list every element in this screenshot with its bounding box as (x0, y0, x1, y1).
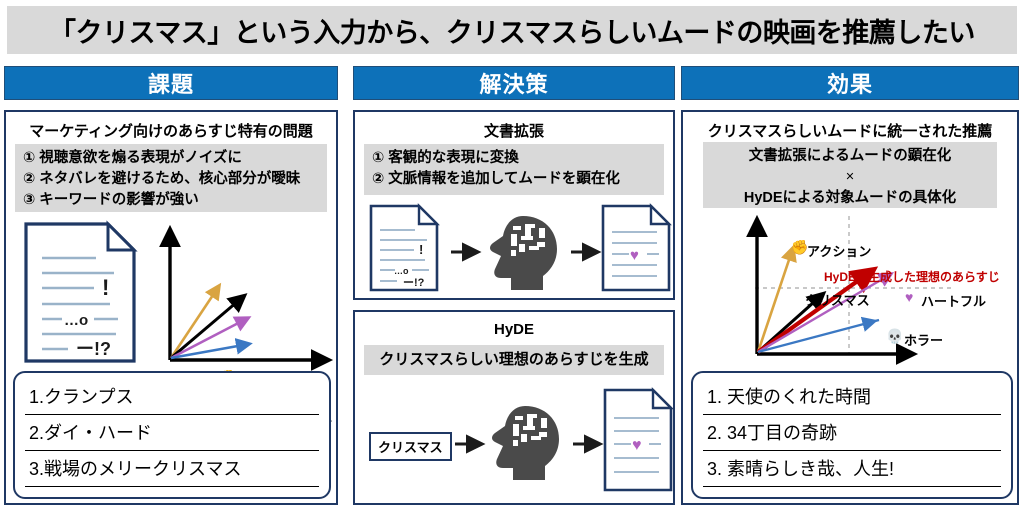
panel-effect: クリスマスらしいムードに統一された推薦 文書拡張によるムードの顕在化 × HyD… (681, 110, 1019, 505)
expansion-input-document-icon: ! …o ー!? (371, 206, 437, 290)
brain-head-icon (490, 216, 557, 290)
panel-document-expansion: 文書拡張 ① 客観的な表現に変換 ② 文脈情報を追加してムードを顕在化 (353, 110, 675, 300)
problem-result-1: 1.クランプス (25, 379, 319, 415)
slide-root: 「クリスマス」という入力から、クリスマスらしいムードの映画を推薦したい 課題 解… (0, 0, 1024, 509)
chart-after-vector-space (745, 212, 1007, 364)
chart-before-vector-space (156, 218, 334, 368)
svg-text:…o: …o (64, 312, 88, 329)
chart2-label-heartful: ハートフル (921, 291, 986, 310)
svg-text:♥: ♥ (630, 247, 639, 264)
chart2-label-action: アクション (807, 241, 871, 260)
effect-formula-operator: × (711, 167, 989, 188)
effect-panel-title: クリスマスらしいムードに統一された推薦 (683, 120, 1017, 141)
page-title: 「クリスマス」という入力から、クリスマスらしいムードの映画を推薦したい (7, 6, 1017, 54)
fist-icon: ✊ (791, 240, 808, 254)
effect-result-1: 1. 天使のくれた時間 (703, 379, 1001, 415)
problem-result-2: 2.ダイ・ハード (25, 415, 319, 451)
effect-formula-box: 文書拡張によるムードの顕在化 × HyDEによる対象ムードの具体化 (703, 142, 997, 208)
column-header-solution: 解決策 (353, 66, 675, 100)
svg-text:ー!?: ー!? (403, 277, 425, 289)
problem-result-3: 3.戦場のメリークリスマス (25, 451, 319, 487)
problem-issue-2: ② ネタバレを避けるため、核心部分が曖昧 (23, 169, 319, 190)
skull-icon: 💀 (886, 329, 903, 343)
svg-text:!: ! (102, 275, 109, 300)
doc-expansion-steps: ① 客観的な表現に変換 ② 文脈情報を追加してムードを顕在化 (364, 144, 664, 195)
problem-issue-list: ① 視聴意欲を煽る表現がノイズに ② ネタバレを避けるため、核心部分が曖昧 ③ … (15, 144, 327, 212)
doc-expansion-step-1: ① 客観的な表現に変換 (372, 148, 656, 169)
problem-results-card: 1.クランプス 2.ダイ・ハード 3.戦場のメリークリスマス (13, 371, 331, 499)
expansion-output-document-icon: ♥ (603, 206, 669, 290)
effect-result-3: 3. 素晴らしき哉、人生! (703, 451, 1001, 487)
chart2-label-christmas: クリスマス (805, 290, 870, 309)
svg-text:♥: ♥ (632, 437, 642, 454)
problem-panel-title: マーケティング向けのあらすじ特有の問題 (6, 120, 336, 141)
effect-results-card: 1. 天使のくれた時間 2. 34丁目の奇跡 3. 素晴らしき哉、人生! (691, 371, 1013, 499)
column-header-problem: 課題 (4, 66, 338, 100)
chart2-label-horror: ホラー (904, 330, 943, 349)
hyde-flow: ♥ (367, 384, 667, 496)
column-header-effect-label: 効果 (827, 67, 873, 99)
effect-result-2: 2. 34丁目の奇跡 (703, 415, 1001, 451)
hyde-description-box: クリスマスらしい理想のあらすじを生成 (364, 345, 664, 375)
brain-head-icon (492, 406, 559, 480)
svg-text:!: ! (419, 242, 423, 257)
effect-formula-2: HyDEによる対象ムードの具体化 (711, 188, 989, 209)
doc-expansion-title: 文書拡張 (355, 120, 673, 141)
column-header-solution-label: 解決策 (479, 67, 548, 99)
column-header-effect: 効果 (681, 66, 1019, 100)
heart-icon: ♥ (905, 290, 913, 304)
hyde-description: クリスマスらしい理想のあらすじを生成 (379, 349, 648, 371)
svg-text:ー!?: ー!? (76, 339, 111, 359)
hyde-generated-document-icon: ♥ (605, 390, 671, 490)
panel-hyde: HyDE クリスマスらしい理想のあらすじを生成 クリスマス (353, 310, 675, 505)
problem-issue-1: ① 視聴意欲を煽る表現がノイズに (23, 148, 319, 169)
doc-expansion-step-2: ② 文脈情報を追加してムードを顕在化 (372, 169, 656, 190)
column-header-problem-label: 課題 (148, 67, 194, 99)
page-title-text: 「クリスマス」という入力から、クリスマスらしいムードの映画を推薦したい (49, 11, 975, 50)
hyde-title: HyDE (355, 321, 673, 338)
problem-issue-3: ③ キーワードの影響が強い (23, 190, 319, 211)
effect-formula-1: 文書拡張によるムードの顕在化 (711, 146, 989, 167)
panel-problem: マーケティング向けのあらすじ特有の問題 ① 視聴意欲を煽る表現がノイズに ② ネ… (4, 110, 338, 505)
problem-input-document-icon: ! …o ー!? (22, 220, 142, 365)
chart2-annotation-hyde: HyDEで生成した理想のあらすじ (824, 268, 1000, 285)
doc-expansion-flow: ! …o ー!? (367, 202, 667, 294)
svg-text:…o: …o (394, 266, 409, 276)
